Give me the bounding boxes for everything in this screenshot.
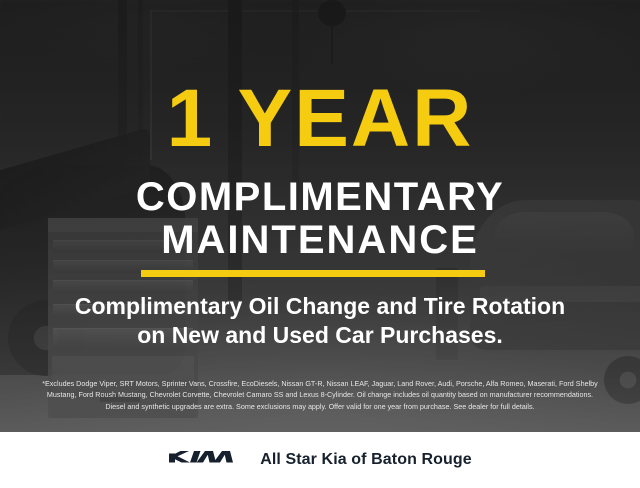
headline-subtitle: COMPLIMENTARY MAINTENANCE [0, 176, 640, 262]
dealer-footer: All Star Kia of Baton Rouge [0, 432, 640, 488]
disclaimer-line-3: Diesel and synthetic upgrades are extra.… [14, 401, 626, 412]
dealer-name: All Star Kia of Baton Rouge [260, 451, 472, 469]
kia-logo-icon [168, 447, 242, 474]
offer-line-1: Complimentary Oil Change and Tire Rotati… [75, 293, 565, 319]
disclaimer-line-1: *Excludes Dodge Viper, SRT Motors, Sprin… [14, 378, 626, 389]
headline-year: 1 YEAR [0, 78, 640, 160]
headline-subtitle-line2: MAINTENANCE [0, 219, 640, 262]
promotional-banner: 1 YEAR COMPLIMENTARY MAINTENANCE Complim… [0, 0, 640, 488]
offer-description: Complimentary Oil Change and Tire Rotati… [0, 292, 640, 350]
disclaimer-line-2: Mustang, Ford Roush Mustang, Chevrolet C… [14, 389, 626, 400]
disclaimer-text: *Excludes Dodge Viper, SRT Motors, Sprin… [14, 378, 626, 412]
headline-subtitle-line1: COMPLIMENTARY [136, 175, 504, 219]
accent-divider-bar [141, 270, 485, 277]
banner-content: 1 YEAR COMPLIMENTARY MAINTENANCE Complim… [0, 0, 640, 488]
offer-line-2: on New and Used Car Purchases. [0, 321, 640, 350]
